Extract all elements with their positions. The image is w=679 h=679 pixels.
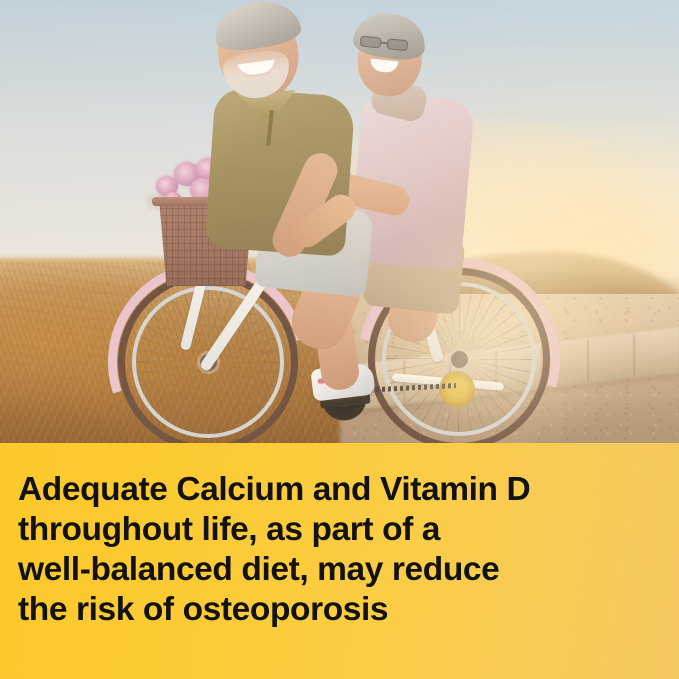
health-claim-text: Adequate Calcium and Vitamin D throughou… <box>18 470 661 630</box>
lifestyle-photo <box>0 0 679 444</box>
product-lifestyle-banner: Adequate Calcium and Vitamin D throughou… <box>0 0 679 679</box>
caption-band: Adequate Calcium and Vitamin D throughou… <box>0 443 679 679</box>
man-cyclist <box>0 0 679 444</box>
